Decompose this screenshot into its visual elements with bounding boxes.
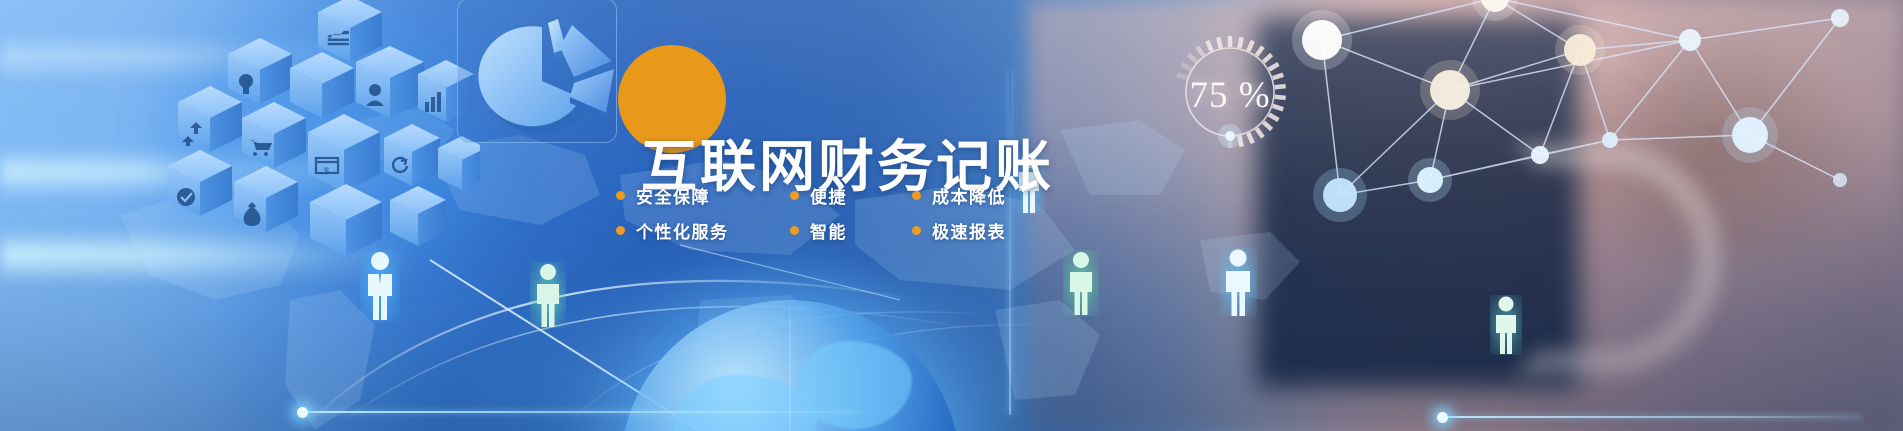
- feature-item-fast-reports[interactable]: 极速报表: [912, 218, 1006, 243]
- feature-label: 成本降低: [932, 183, 1006, 208]
- person-figure: [530, 262, 566, 328]
- feature-label: 便捷: [810, 183, 847, 208]
- baseline-dot: [1437, 412, 1448, 423]
- promotional-banner: $: [0, 0, 1903, 431]
- person-figure: [1490, 295, 1522, 355]
- bullet-dot: [616, 191, 625, 200]
- person-figure: [1063, 250, 1099, 316]
- feature-item-convenient[interactable]: 便捷: [790, 183, 912, 208]
- feature-row-primary: 安全保障 便捷 成本降低: [616, 183, 1006, 208]
- svg-text:$: $: [324, 166, 329, 176]
- baseline-right: [1442, 416, 1862, 418]
- bullet-dot: [790, 226, 799, 235]
- feature-row-secondary: 个性化服务 智能 极速报表: [616, 218, 1006, 243]
- feature-item-personalized-service[interactable]: 个性化服务: [616, 218, 790, 243]
- feature-item-security[interactable]: 安全保障: [616, 183, 790, 208]
- baseline-left: [302, 411, 862, 413]
- baseline-vertical: [1009, 70, 1011, 415]
- feature-item-cost-reduction[interactable]: 成本降低: [912, 183, 1006, 208]
- feature-label: 极速报表: [932, 218, 1006, 243]
- network-nodes-graphic: [1280, 0, 1900, 240]
- bullet-dot: [616, 226, 625, 235]
- bullet-dot: [790, 191, 799, 200]
- feature-label: 安全保障: [636, 183, 710, 208]
- person-figure: [360, 250, 400, 322]
- feature-label: 个性化服务: [636, 218, 729, 243]
- feature-label: 智能: [810, 218, 847, 243]
- person-figure: [1219, 248, 1257, 316]
- pie-chart-panel: [457, 0, 617, 143]
- business-icon-cube-cluster: $: [150, 0, 480, 290]
- bullet-dot: [912, 191, 921, 200]
- bullet-dot: [912, 226, 921, 235]
- baseline-dot: [297, 407, 308, 418]
- feature-item-intelligent[interactable]: 智能: [790, 218, 912, 243]
